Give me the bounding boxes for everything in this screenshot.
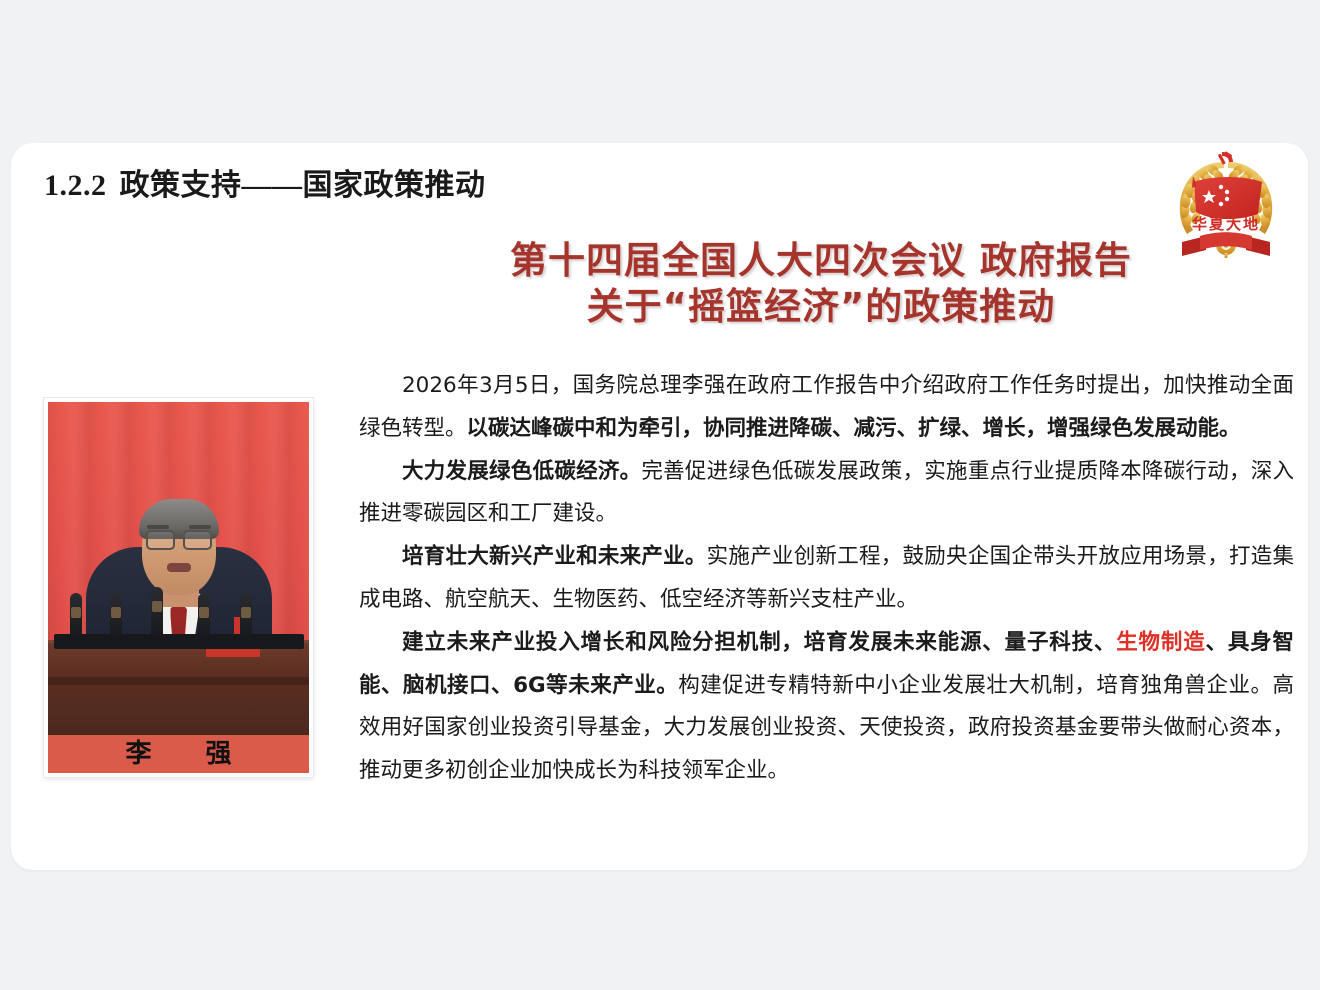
photo-caption: 李 强 [48, 735, 309, 773]
logo-text: 华夏大地 [1192, 215, 1260, 233]
headline-line-1: 第十四届全国人大四次会议 政府报告 [341, 238, 1301, 284]
speaker-photo [48, 402, 309, 735]
highlight-run: 生物制造 [1116, 630, 1205, 655]
microphone-icon [198, 593, 210, 639]
microphone-icon [240, 593, 252, 639]
speaker-photo-block: 李 强 [44, 398, 313, 777]
headline: 第十四届全国人大四次会议 政府报告 关于“摇篮经济”的政策推动 [341, 238, 1301, 330]
bold-run: 大力发展绿色低碳经济。 [402, 459, 641, 484]
microphone-icon [151, 587, 163, 639]
red-flag-icon [1192, 176, 1262, 219]
microphone-bar [54, 634, 304, 649]
microphone-icon [70, 593, 82, 639]
section-title: 政策支持——国家政策推动 [120, 169, 486, 202]
bold-run: 建立未来产业投入增长和风险分担机制，培育发展未来能源、量子科技、 [402, 630, 1116, 655]
body-copy: 2026年3月5日，国务院总理李强在政府工作报告中介绍政府工作任务时提出，加快推… [359, 365, 1294, 793]
headline-line-2: 关于“摇篮经济”的政策推动 [341, 284, 1301, 330]
paragraph: 大力发展绿色低碳经济。完善促进绿色低碳发展政策，实施重点行业提质降本降碳行动，深… [359, 451, 1294, 537]
slide-card: 1.2.2政策支持——国家政策推动 [11, 143, 1308, 870]
person-brow-left [147, 525, 169, 529]
bold-run: 以碳达峰碳中和为牵引，协同推进降碳、减污、扩绿、增长，增强绿色发展动能。 [467, 416, 1241, 441]
page-title: 1.2.2政策支持——国家政策推动 [44, 160, 486, 204]
section-number: 1.2.2 [44, 169, 107, 202]
podium [48, 640, 309, 735]
person-glasses [146, 530, 212, 547]
paragraph: 建立未来产业投入增长和风险分担机制，培育发展未来能源、量子科技、生物制造、具身智… [359, 622, 1294, 793]
bold-run: 培育壮大新兴产业和未来产业。 [402, 544, 707, 569]
microphone-icon [110, 593, 122, 639]
paragraph: 培育壮大新兴产业和未来产业。实施产业创新工程，鼓励央企国企带头开放应用场景，打造… [359, 536, 1294, 622]
person-brow-right [189, 525, 211, 529]
person-mouth [167, 563, 191, 572]
paragraph: 2026年3月5日，国务院总理李强在政府工作报告中介绍政府工作任务时提出，加快推… [359, 365, 1294, 451]
